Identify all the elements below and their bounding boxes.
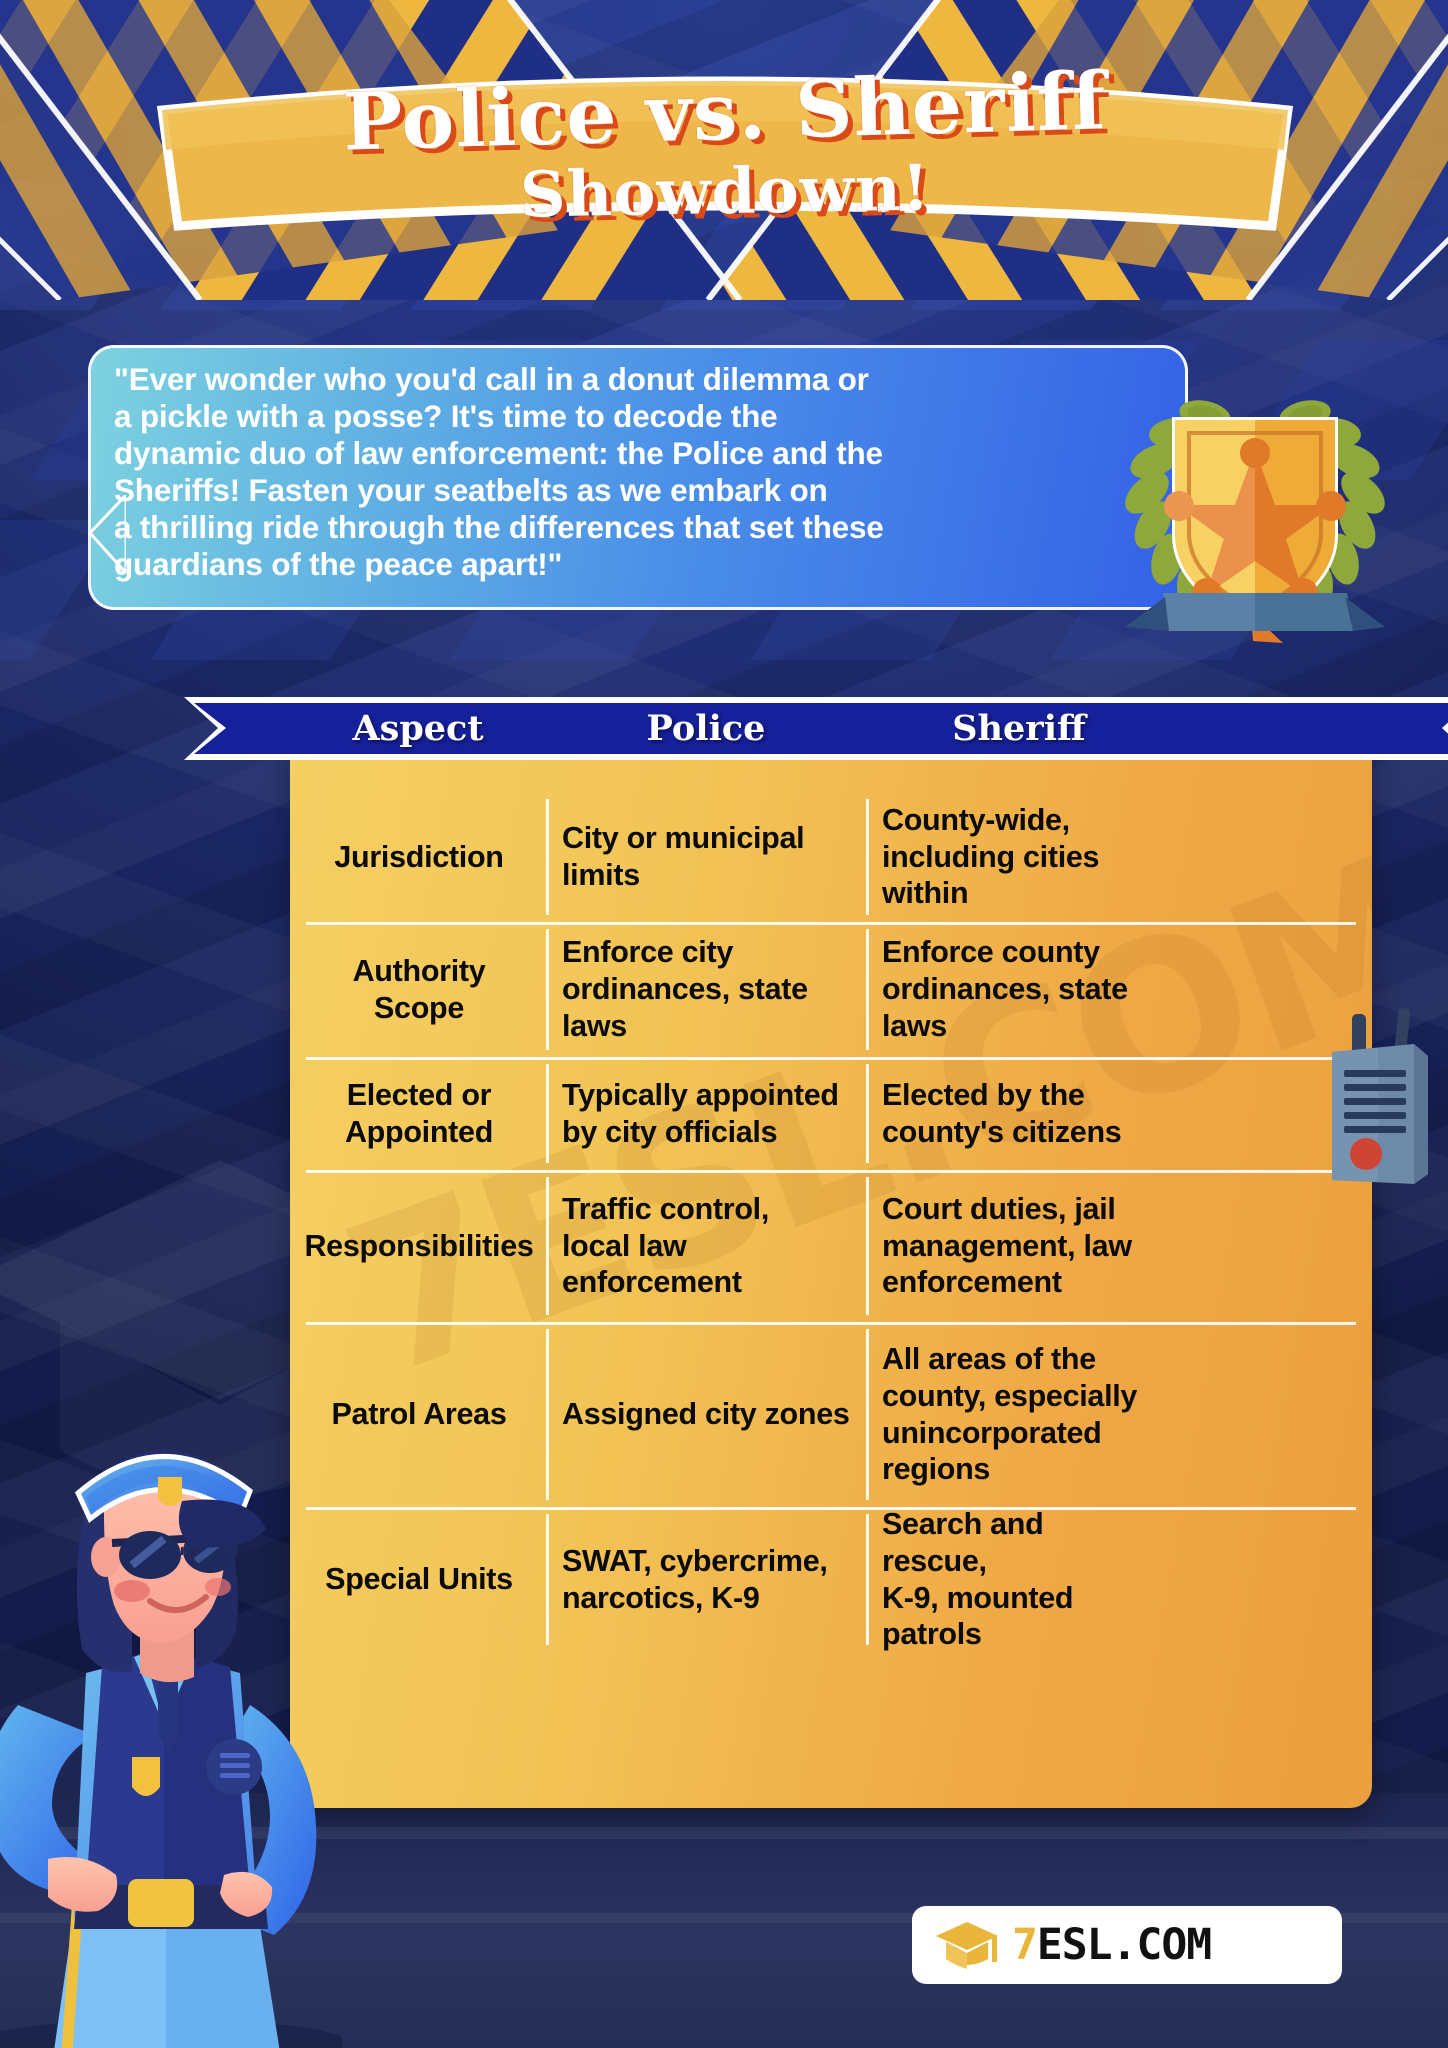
cell-line: Enforce county: [882, 934, 1128, 971]
cell-line: Responsibilities: [304, 1228, 533, 1265]
table-cell-police: City or municipal limits: [546, 792, 866, 922]
logo-esl: ESL.COM: [1037, 1920, 1211, 1970]
cell-line: by city officials: [562, 1114, 839, 1151]
logo-wordmark: 7ESL.COM: [1012, 1920, 1211, 1970]
title-text-group: Police vs. Sheriff Showdown!: [150, 58, 1300, 233]
cell-line: county's citizens: [882, 1114, 1121, 1151]
title-line-2: Showdown!: [519, 156, 930, 226]
cell-line: ordinances, state: [562, 971, 808, 1008]
table-header-ribbon: Aspect Police Sheriff: [180, 691, 1448, 766]
cell-line: within: [882, 875, 1099, 912]
police-officer-illustration: [0, 1405, 342, 2048]
cell-line: Appointed: [345, 1114, 493, 1151]
table-row: Patrol Areas Assigned city zones All are…: [290, 1322, 1372, 1507]
cell-line: Enforce city: [562, 934, 808, 971]
cell-line: patrols: [882, 1616, 1156, 1653]
cell-line: unincorporated: [882, 1415, 1137, 1452]
cell-line: laws: [562, 1008, 808, 1045]
cell-line: laws: [882, 1008, 1128, 1045]
table-header-aspect: Aspect: [290, 708, 546, 749]
table-card: 7ESL.COM Jurisdiction City or municipal …: [290, 718, 1372, 1808]
table-cell-aspect: Jurisdiction: [290, 792, 546, 922]
cell-line: Search and rescue,: [882, 1506, 1156, 1580]
table-row: Jurisdiction City or municipal limits Co…: [290, 792, 1372, 922]
table-row: Special Units SWAT, cybercrime, narcotic…: [290, 1507, 1372, 1652]
table-cell-sheriff: All areas of the county, especially unin…: [866, 1322, 1172, 1507]
cell-line: county, especially: [882, 1378, 1137, 1415]
cell-line: limits: [562, 857, 804, 894]
cell-line: All areas of the: [882, 1341, 1137, 1378]
table-cell-sheriff: Court duties, jail management, law enfor…: [866, 1170, 1172, 1322]
cell-line: Elected or: [345, 1077, 493, 1114]
table-cell-sheriff: Search and rescue, K-9, mounted patrols: [866, 1507, 1172, 1652]
table-cell-sheriff: Enforce county ordinances, state laws: [866, 922, 1172, 1057]
logo-seven: 7: [1012, 1920, 1037, 1970]
intro-speech-bubble: "Ever wonder who you'd call in a donut d…: [88, 345, 1188, 610]
graduation-cap-icon: [934, 1919, 1000, 1971]
cell-line: Jurisdiction: [334, 839, 503, 876]
intro-line: dynamic duo of law enforcement: the Poli…: [114, 435, 888, 472]
cell-line: Traffic control,: [562, 1191, 769, 1228]
cell-line: local law: [562, 1228, 769, 1265]
intro-line: a pickle with a posse? It's time to deco…: [114, 398, 888, 435]
cell-line: Special Units: [325, 1561, 513, 1598]
cell-line: SWAT, cybercrime,: [562, 1543, 828, 1580]
walkie-talkie-icon: [1318, 1008, 1438, 1188]
ribbon-labels: Aspect Police Sheriff: [290, 691, 1372, 766]
cell-line: Court duties, jail: [882, 1191, 1132, 1228]
infographic-page: Police vs. Sheriff Showdown! "Ever wonde…: [0, 0, 1448, 2048]
cell-line: Assigned city zones: [562, 1396, 850, 1433]
cell-line: Elected by the: [882, 1077, 1121, 1114]
table-cell-police: SWAT, cybercrime, narcotics, K-9: [546, 1507, 866, 1652]
cell-line: enforcement: [882, 1264, 1132, 1301]
intro-line: Sheriffs! Fasten your seatbelts as we em…: [114, 472, 888, 509]
cell-line: K-9, mounted: [882, 1580, 1156, 1617]
cell-line: Patrol Areas: [332, 1396, 507, 1433]
comparison-table: 7ESL.COM Jurisdiction City or municipal …: [290, 718, 1372, 1808]
table-cell-sheriff: County-wide, including cities within: [866, 792, 1172, 922]
cell-line: City or municipal: [562, 820, 804, 857]
sheriff-star-shield-icon: [1105, 375, 1405, 645]
intro-text: "Ever wonder who you'd call in a donut d…: [114, 361, 888, 582]
intro-line: guardians of the peace apart!": [114, 546, 888, 583]
table-cell-police: Enforce city ordinances, state laws: [546, 922, 866, 1057]
cell-line: Scope: [353, 990, 486, 1027]
7esl-logo[interactable]: 7ESL.COM: [912, 1906, 1342, 1984]
table-body: Jurisdiction City or municipal limits Co…: [290, 792, 1372, 1808]
cell-line: Authority: [353, 953, 486, 990]
table-cell-aspect: Authority Scope: [290, 922, 546, 1057]
cell-line: regions: [882, 1451, 1137, 1488]
table-cell-aspect: Responsibilities: [290, 1170, 546, 1322]
table-cell-police: Traffic control, local law enforcement: [546, 1170, 866, 1322]
table-cell-aspect: Elected or Appointed: [290, 1057, 546, 1170]
cell-line: Typically appointed: [562, 1077, 839, 1114]
cell-line: enforcement: [562, 1264, 769, 1301]
table-header-police: Police: [546, 708, 866, 749]
intro-line: a thrilling ride through the differences…: [114, 509, 888, 546]
cell-line: including cities: [882, 839, 1099, 876]
title-banner: Police vs. Sheriff Showdown!: [150, 58, 1300, 233]
table-row: Elected or Appointed Typically appointed…: [290, 1057, 1372, 1170]
cell-line: ordinances, state: [882, 971, 1128, 1008]
cell-line: narcotics, K-9: [562, 1580, 828, 1617]
cell-line: management, law: [882, 1228, 1132, 1265]
table-row: Authority Scope Enforce city ordinances,…: [290, 922, 1372, 1057]
table-cell-sheriff: Elected by the county's citizens: [866, 1057, 1172, 1170]
table-cell-police: Assigned city zones: [546, 1322, 866, 1507]
cell-line: County-wide,: [882, 802, 1099, 839]
title-line-1: Police vs. Sheriff: [342, 61, 1108, 161]
intro-line: "Ever wonder who you'd call in a donut d…: [114, 361, 888, 398]
table-header-sheriff: Sheriff: [866, 708, 1172, 749]
table-cell-police: Typically appointed by city officials: [546, 1057, 866, 1170]
table-row: Responsibilities Traffic control, local …: [290, 1170, 1372, 1322]
